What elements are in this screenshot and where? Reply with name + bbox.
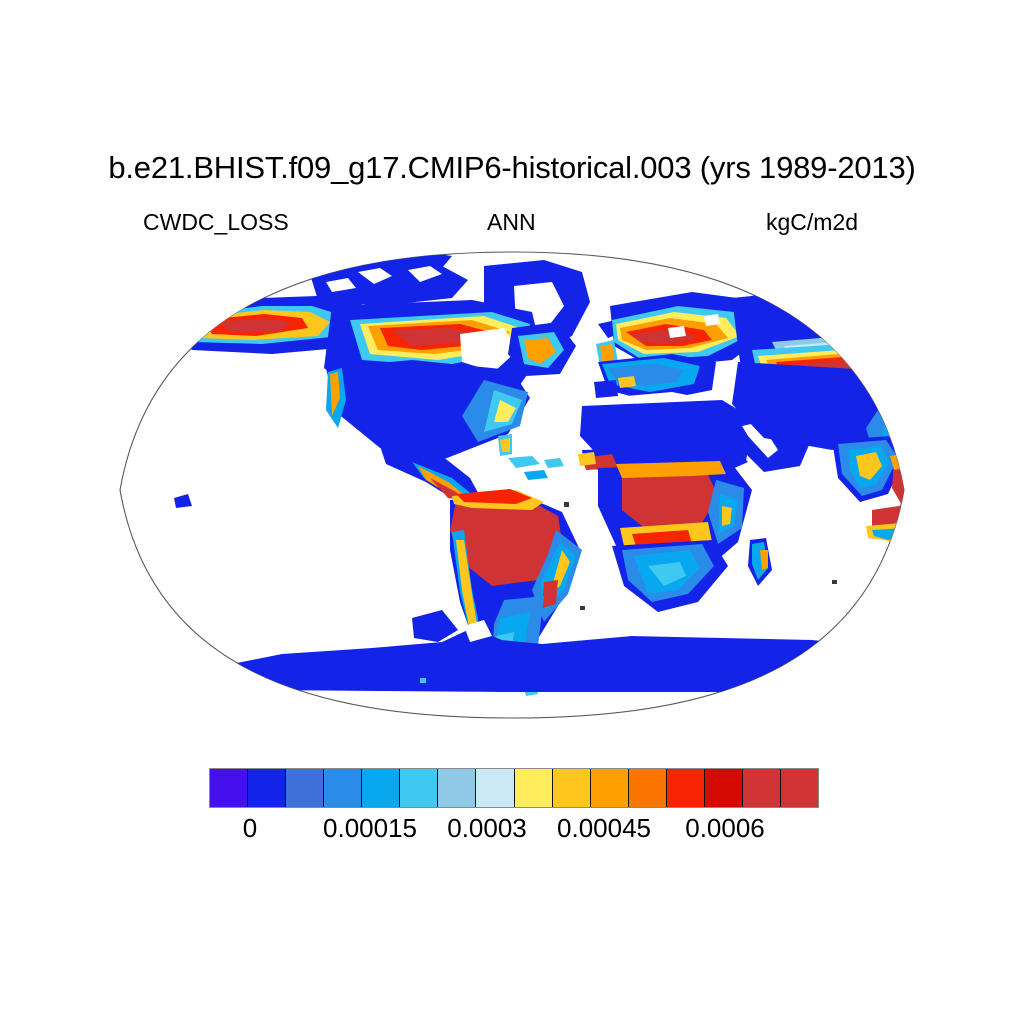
colorbar-cell xyxy=(324,769,362,807)
figure-title: b.e21.BHIST.f09_g17.CMIP6-historical.003… xyxy=(0,152,1024,183)
colorbar-tick-label: 0 xyxy=(243,815,257,841)
colorbar-cell xyxy=(705,769,743,807)
colorbar-tick-label: 0.00045 xyxy=(557,815,651,841)
colorbar-tick-label: 0.0003 xyxy=(447,815,527,841)
colorbar-cell xyxy=(210,769,248,807)
season-label: ANN xyxy=(487,211,536,234)
units-label: kgC/m2d xyxy=(766,211,858,234)
colorbar-cell xyxy=(400,769,438,807)
climate-map-figure: b.e21.BHIST.f09_g17.CMIP6-historical.003… xyxy=(0,0,1024,1024)
colorbar-cell xyxy=(553,769,591,807)
colorbar-cell xyxy=(591,769,629,807)
colorbar[interactable] xyxy=(209,768,819,808)
world-map-svg xyxy=(112,250,912,730)
colorbar-tick-labels: 00.000150.00030.000450.0006 xyxy=(0,815,1024,849)
colorbar-cell xyxy=(667,769,705,807)
colorbar-cell xyxy=(362,769,400,807)
variable-label: CWDC_LOSS xyxy=(143,211,289,234)
colorbar-cell xyxy=(286,769,324,807)
colorbar-cell xyxy=(629,769,667,807)
colorbar-cell xyxy=(743,769,781,807)
colorbar-cell xyxy=(248,769,286,807)
colorbar-cell xyxy=(515,769,553,807)
colorbar-tick-label: 0.0006 xyxy=(685,815,765,841)
colorbar-tick-label: 0.00015 xyxy=(323,815,417,841)
colorbar-cell xyxy=(476,769,514,807)
colorbar-cell xyxy=(438,769,476,807)
colorbar-cell xyxy=(781,769,818,807)
world-map-panel xyxy=(112,250,912,730)
